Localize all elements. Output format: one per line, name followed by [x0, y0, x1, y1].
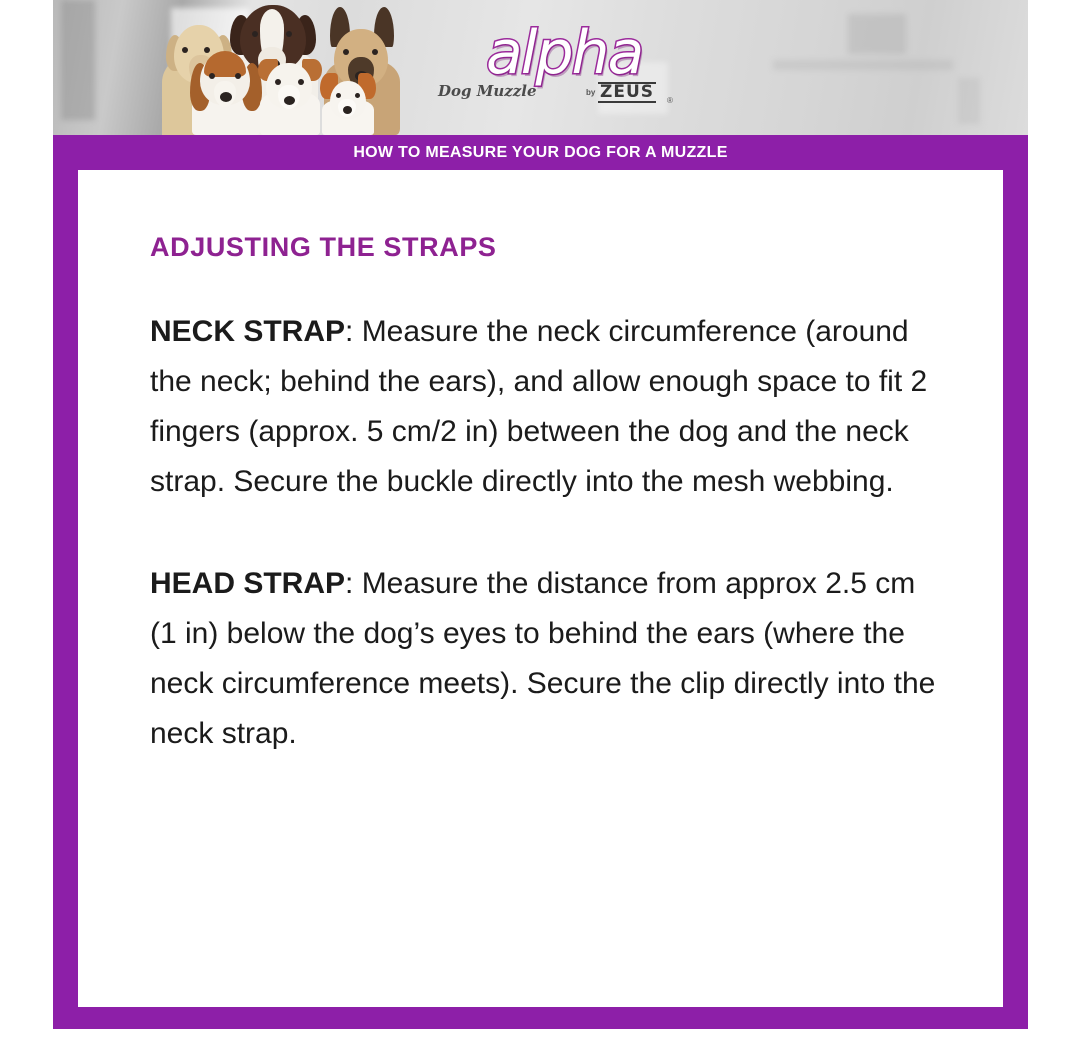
- logo-wordmark: alpha: [486, 18, 642, 88]
- head-strap-paragraph: HEAD STRAP: Measure the distance from ap…: [150, 559, 940, 759]
- logo-subtitle: Dog Muzzle: [438, 82, 537, 100]
- content-frame: ADJUSTING THE STRAPS NECK STRAP: Measure…: [53, 170, 1028, 1029]
- alpha-brand-logo: alpha Dog Muzzle by ZEUS ®: [438, 20, 678, 115]
- section-heading: ADJUSTING THE STRAPS: [150, 232, 943, 263]
- neck-strap-paragraph: NECK STRAP: Measure the neck circumferen…: [150, 307, 940, 507]
- logo-by-label: by: [586, 88, 595, 97]
- head-strap-label: HEAD STRAP: [150, 567, 345, 600]
- page-root: alpha Dog Muzzle by ZEUS ® HOW TO MEASUR…: [0, 0, 1080, 1050]
- hero-banner: alpha Dog Muzzle by ZEUS ®: [53, 0, 1028, 135]
- page-title-bar: HOW TO MEASURE YOUR DOG FOR A MUZZLE: [53, 135, 1028, 170]
- hero-backdrop-shape: [61, 0, 95, 120]
- group-of-dogs-photo: [150, 3, 410, 135]
- neck-strap-label: NECK STRAP: [150, 315, 345, 348]
- neck-strap-separator: :: [345, 315, 362, 348]
- logo-trademark-icon: ®: [667, 96, 673, 105]
- dog-jack-russell: [258, 57, 322, 135]
- head-strap-separator: :: [345, 567, 362, 600]
- hero-backdrop-shape: [958, 78, 980, 124]
- hero-backdrop-shape: [773, 60, 953, 70]
- logo-brand-zeus: ZEUS: [598, 82, 656, 103]
- dog-beagle: [190, 49, 262, 135]
- dog-papillon: [320, 73, 376, 135]
- instruction-card: alpha Dog Muzzle by ZEUS ® HOW TO MEASUR…: [53, 0, 1028, 1029]
- page-title: HOW TO MEASURE YOUR DOG FOR A MUZZLE: [353, 144, 727, 162]
- content-panel: ADJUSTING THE STRAPS NECK STRAP: Measure…: [78, 170, 1003, 1007]
- hero-backdrop-shape: [848, 14, 906, 54]
